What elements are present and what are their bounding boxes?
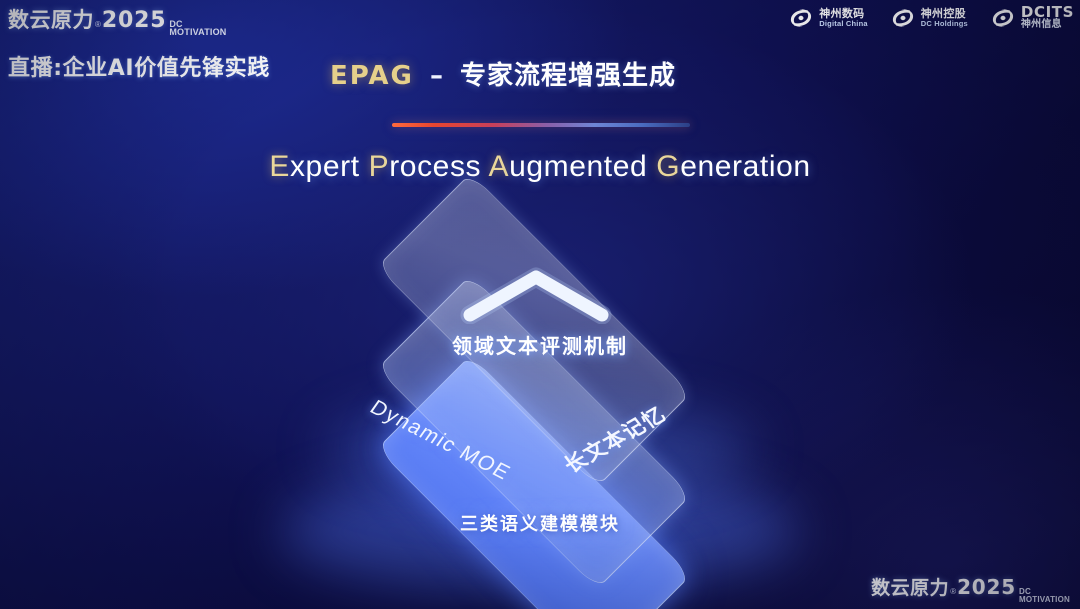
swoosh-icon — [890, 7, 916, 29]
corp-name-cn: 神州数码 — [819, 8, 867, 19]
slide-canvas: 数云原力 ® 2025 DC MOTIVATION 直播:企业AI价值先锋实践 … — [0, 0, 1080, 609]
top-bar: 数云原力 ® 2025 DC MOTIVATION 直播:企业AI价值先锋实践 … — [0, 0, 1080, 46]
diagram-layer-top — [377, 173, 691, 487]
brand-year: 2025 — [957, 575, 1016, 599]
subtitle-cap-a: A — [488, 150, 509, 183]
subtitle-word-expert: Expert — [269, 150, 359, 183]
subtitle-cap-p: P — [369, 150, 390, 183]
chevron-up-icon — [460, 266, 612, 324]
page-subtitle: Expert Process Augmented Generation — [0, 150, 1080, 184]
corp-name-cn: 神州信息 — [1021, 20, 1074, 30]
title-acronym: EPAG — [330, 61, 414, 91]
diagram-label-long-text-memory: 长文本记忆 — [557, 399, 673, 479]
page-title: EPAG – 专家流程增强生成 — [330, 55, 676, 92]
gradient-divider — [392, 123, 690, 127]
brand-subtitle: DC MOTIVATION — [1019, 588, 1070, 603]
corp-text: 神州数码 Digital China — [819, 8, 867, 27]
diagram-label-bottom: 三类语义建模模块 — [0, 510, 1080, 536]
subtitle-rest-generation: eneration — [680, 150, 811, 183]
brand-year: 2025 — [102, 8, 166, 33]
brand-sub-line2: MOTIVATION — [1019, 596, 1070, 603]
brand-sub-line2: MOTIVATION — [169, 28, 226, 36]
corp-text: 神州控股 DC Holdings — [921, 8, 968, 27]
corp-name-cn: 神州控股 — [921, 8, 968, 19]
registered-mark: ® — [950, 587, 956, 596]
subtitle-rest-expert: xpert — [290, 150, 360, 183]
diagram-label-top: 领域文本评测机制 — [0, 330, 1080, 359]
corp-name-en: DCITS — [1021, 5, 1074, 20]
subtitle-word-generation: Generation — [656, 150, 810, 183]
title-chinese: 专家流程增强生成 — [460, 61, 676, 91]
corp-logo-digital-china: 神州数码 Digital China — [788, 7, 867, 29]
brand-logo-top: 数云原力 ® 2025 DC MOTIVATION — [8, 4, 227, 37]
corp-logo-dc-holdings: 神州控股 DC Holdings — [890, 7, 968, 29]
swoosh-icon — [990, 7, 1016, 29]
middle-layer-glow — [325, 400, 755, 496]
subtitle-word-process: Process — [369, 150, 482, 183]
subtitle-rest-augmented: ugmented — [509, 150, 647, 183]
title-dash: – — [430, 61, 444, 91]
brand-name-cn: 数云原力 — [871, 573, 949, 600]
diagram-label-dynamic-moe: Dynamic MOE — [365, 396, 515, 485]
livestream-label: 直播:企业AI价值先锋实践 — [8, 50, 270, 82]
subtitle-cap-e: E — [269, 150, 290, 183]
subtitle-word-augmented: Augmented — [488, 150, 647, 183]
bottom-layer-glow — [280, 470, 800, 594]
corp-name-en: DC Holdings — [921, 20, 968, 28]
subtitle-rest-process: rocess — [389, 150, 481, 183]
corp-name-en: Digital China — [819, 20, 867, 28]
brand-name-cn: 数云原力 — [8, 4, 94, 34]
diagram-layer-bottom — [377, 355, 691, 609]
corp-text: DCITS 神州信息 — [1021, 5, 1074, 30]
brand-logo-watermark: 数云原力 ® 2025 DC MOTIVATION — [871, 573, 1070, 603]
brand-subtitle: DC MOTIVATION — [169, 20, 226, 37]
subtitle-cap-g: G — [656, 150, 680, 183]
diagram-layer-middle — [377, 275, 691, 589]
swoosh-icon — [788, 7, 814, 29]
corp-logo-dcits: DCITS 神州信息 — [990, 5, 1074, 30]
corporate-logos: 神州数码 Digital China 神州控股 DC Holdings — [788, 5, 1074, 30]
registered-mark: ® — [95, 20, 101, 29]
